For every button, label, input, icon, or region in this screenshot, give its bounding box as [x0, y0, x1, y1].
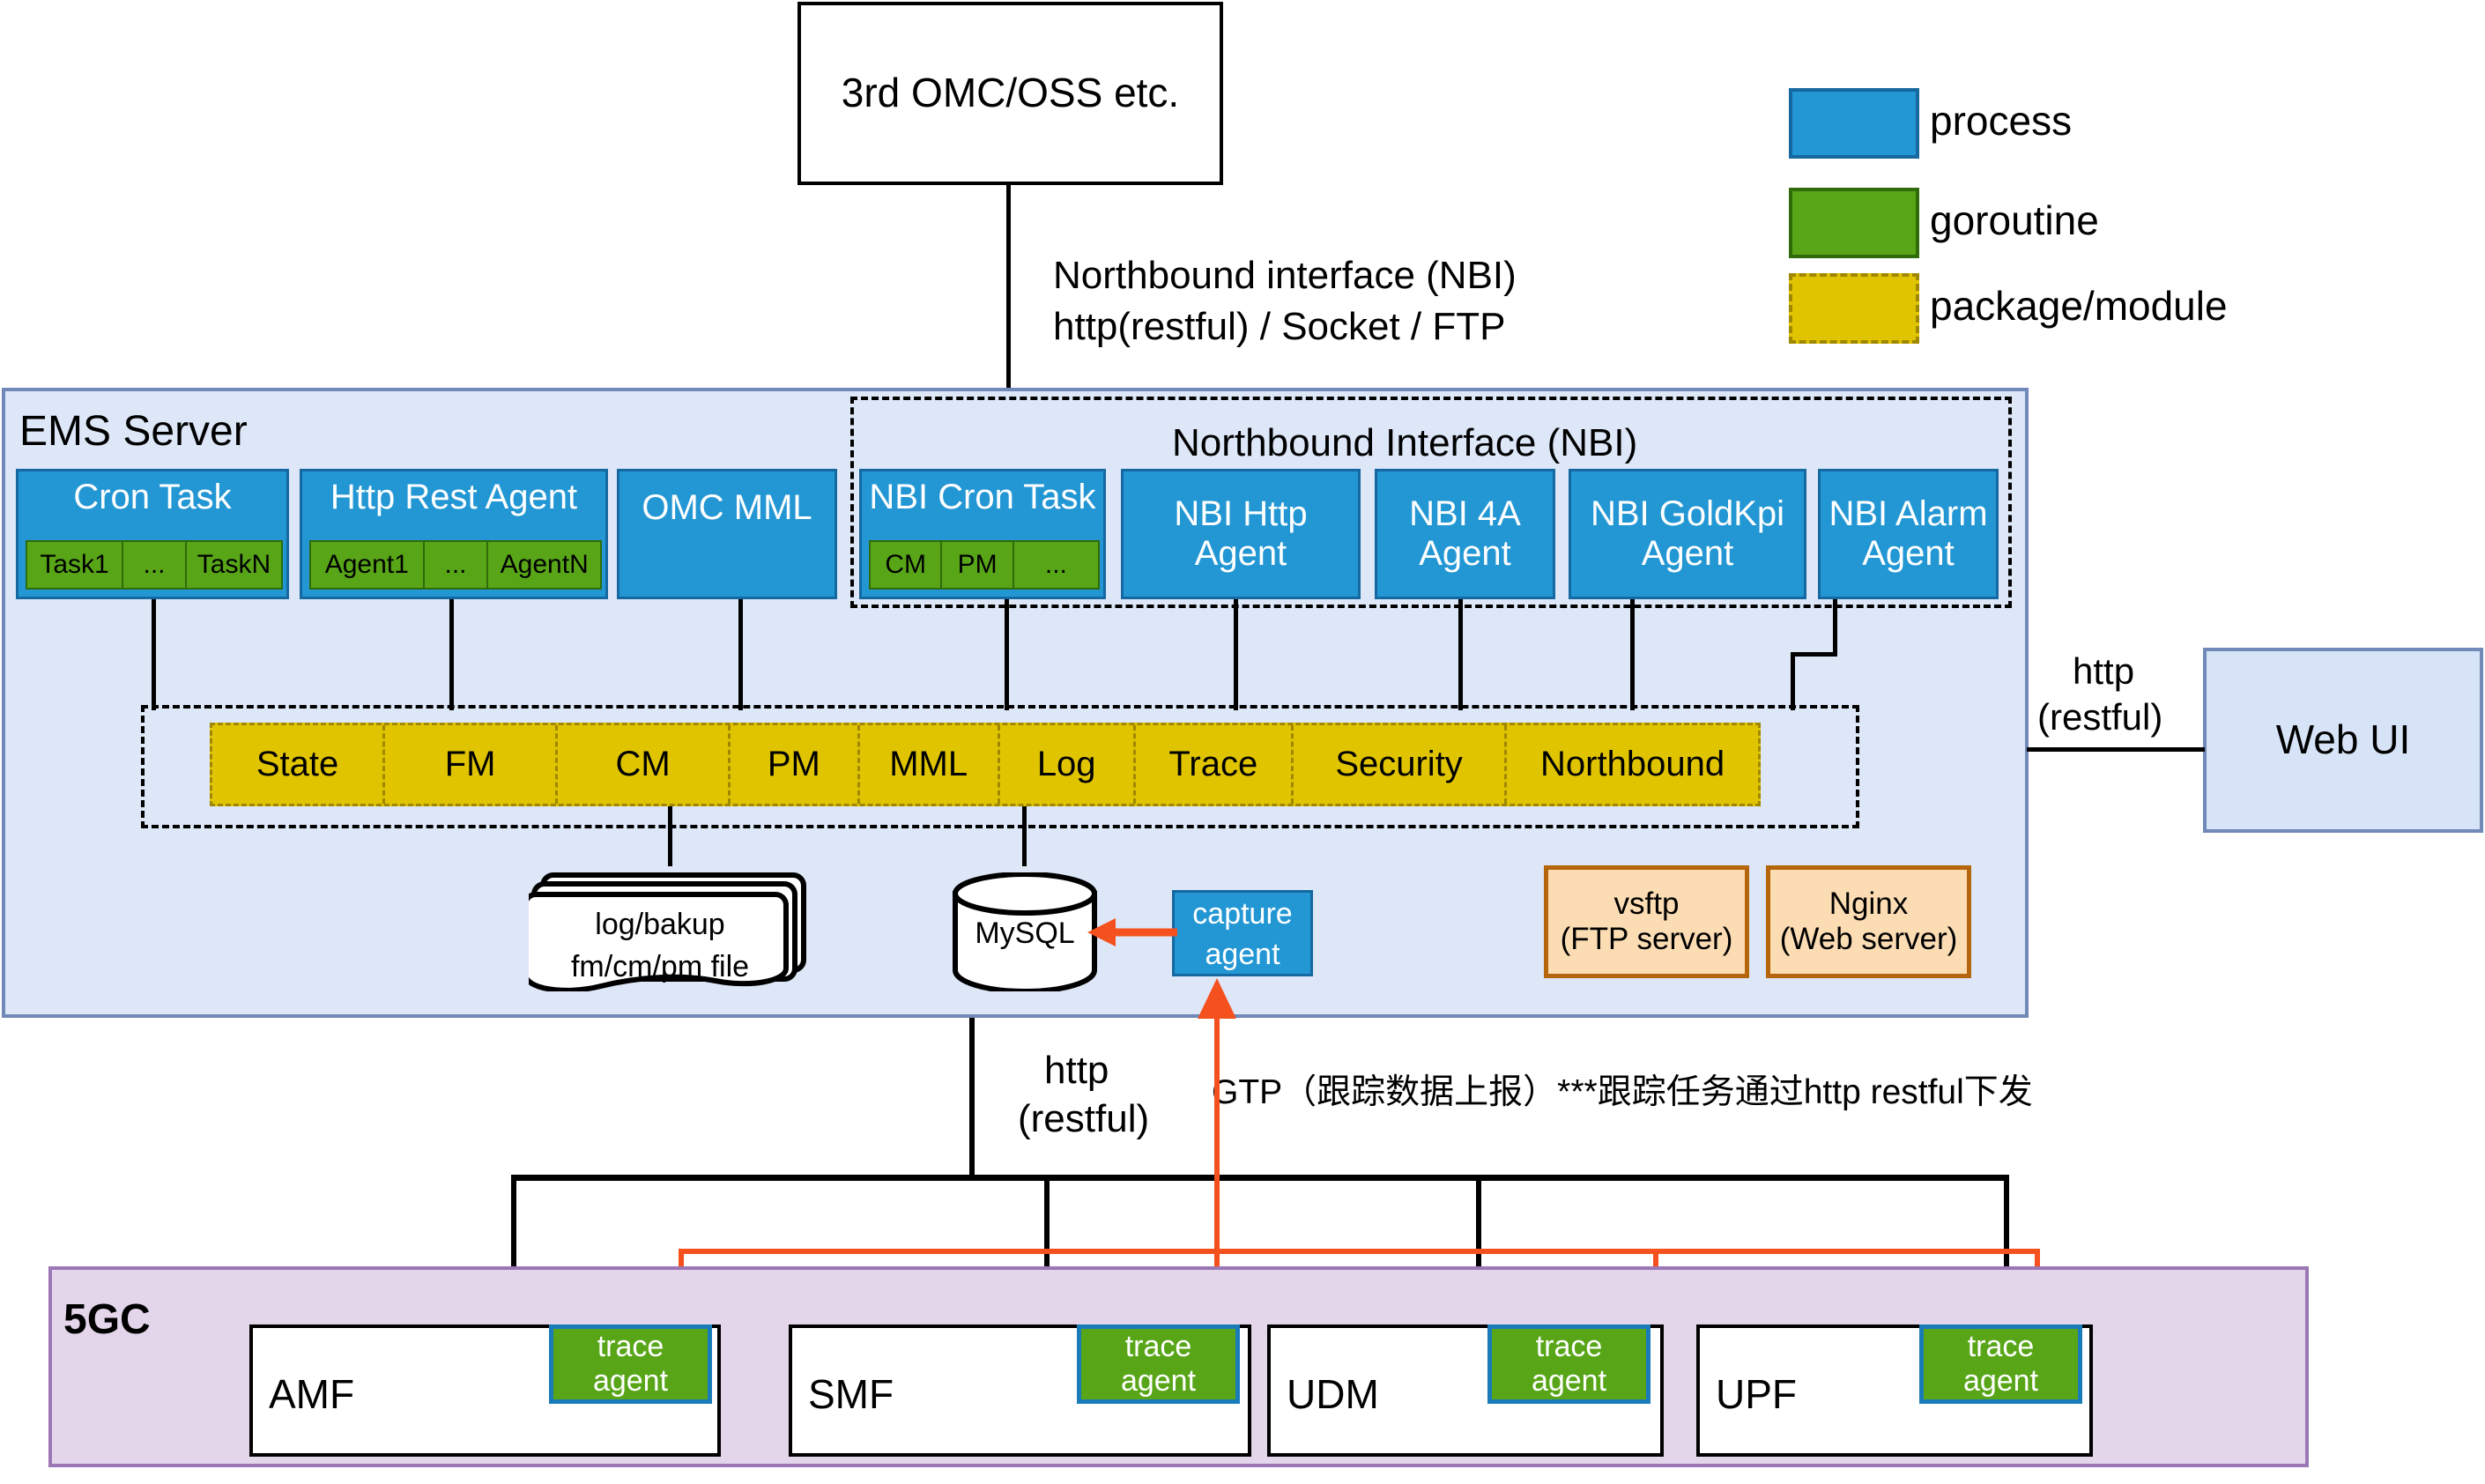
- connector-cron-task-to-modules: [152, 599, 156, 710]
- service-nginx-line2: (Web server): [1780, 922, 1958, 957]
- goroutine-group-cron-task: Task1 ... TaskN: [26, 540, 283, 590]
- nf-label-smf: SMF: [808, 1370, 894, 1418]
- file-store-label-line2: fm/cm/pm file: [515, 950, 805, 984]
- service-box-nginx[interactable]: Nginx (Web server): [1766, 865, 1971, 978]
- module-cm[interactable]: CM: [558, 725, 731, 804]
- module-northbound[interactable]: Northbound: [1507, 725, 1758, 804]
- trace-agent-label-line1: trace: [1125, 1330, 1192, 1364]
- legend-label-goroutine: goroutine: [1930, 197, 2099, 244]
- nf-label-amf: AMF: [269, 1370, 354, 1418]
- connector-ems-to-webui: [2027, 747, 2205, 752]
- module-bar: State FM CM PM MML Log Trace Security No…: [210, 723, 1761, 806]
- connector-nbi-alarm-agent-h: [1791, 652, 1837, 657]
- service-box-vsftp[interactable]: vsftp (FTP server): [1544, 865, 1749, 978]
- database-shape[interactable]: MySQL: [950, 872, 1100, 991]
- service-vsftp-line1: vsftp: [1614, 887, 1680, 922]
- arrow-capture-to-mysql: [1084, 916, 1181, 952]
- process-label-cron-task: Cron Task: [19, 471, 286, 523]
- goroutine-cell: CM: [871, 542, 942, 588]
- legend-label-module: package/module: [1930, 282, 2228, 330]
- module-security[interactable]: Security: [1294, 725, 1507, 804]
- process-box-nbi-goldkpi-agent[interactable]: NBI GoldKpi Agent: [1569, 469, 1806, 599]
- process-label-nbi-goldkpi-agent: NBI GoldKpi Agent: [1578, 494, 1797, 574]
- trace-agent-smf[interactable]: trace agent: [1077, 1324, 1240, 1404]
- trace-agent-label-line2: agent: [593, 1364, 668, 1399]
- connector-nbi-goldkpi-agent-to-modules: [1630, 599, 1635, 710]
- service-vsftp-line2: (FTP server): [1561, 922, 1733, 957]
- module-mml[interactable]: MML: [860, 725, 1000, 804]
- process-box-nbi-4a-agent[interactable]: NBI 4A Agent: [1375, 469, 1555, 599]
- ems-server-title: EMS Server: [19, 407, 248, 456]
- trace-agent-label-line2: agent: [1532, 1364, 1606, 1399]
- goroutine-cell: Agent1: [311, 542, 425, 588]
- goroutine-cell: Task1: [27, 542, 123, 588]
- capture-agent-label-line2: agent: [1175, 935, 1310, 974]
- process-label-nbi-cron-task: NBI Cron Task: [862, 471, 1103, 523]
- process-label-omc-mml: OMC MML: [642, 488, 812, 528]
- process-label-http-rest-agent: Http Rest Agent: [302, 471, 605, 523]
- trace-uplink-vertical: [1214, 1018, 1220, 1251]
- process-box-nbi-alarm-agent[interactable]: NBI Alarm Agent: [1818, 469, 1999, 599]
- trace-agent-label-line1: trace: [1536, 1330, 1603, 1364]
- goroutine-cell: TaskN: [187, 542, 281, 588]
- connector-ems-to-5gc-bus: [969, 1018, 975, 1175]
- web-ui-box[interactable]: Web UI: [2203, 648, 2483, 833]
- connector-nbi-cron-task-to-modules: [1005, 599, 1009, 710]
- trace-agent-label-line1: trace: [597, 1330, 664, 1364]
- connector-nbi-http-agent-to-modules: [1234, 599, 1238, 710]
- web-ui-label: Web UI: [2276, 717, 2411, 763]
- connector-cm-module-to-file-store: [668, 806, 672, 866]
- nbi-group-title: Northbound Interface (NBI): [1172, 421, 1637, 465]
- legend-label-process: process: [1930, 97, 2072, 145]
- trace-agent-label-line1: trace: [1968, 1330, 2035, 1364]
- webui-link-label-line2: (restful): [2037, 696, 2162, 738]
- trace-agent-amf[interactable]: trace agent: [549, 1324, 712, 1404]
- external-system-label: 3rd OMC/OSS etc.: [842, 70, 1179, 116]
- goroutine-cell: ...: [123, 542, 187, 588]
- trace-agent-label-line2: agent: [1963, 1364, 2038, 1399]
- trace-agent-upf[interactable]: trace agent: [1919, 1324, 2082, 1404]
- trace-bus-horizontal: [679, 1249, 2040, 1254]
- gtp-note-label: GTP（跟踪数据上报）***跟踪任务通过http restful下发: [1212, 1065, 2033, 1114]
- process-label-nbi-alarm-agent: NBI Alarm Agent: [1828, 494, 1989, 574]
- process-box-nbi-cron-task[interactable]: NBI Cron Task CM PM ...: [859, 469, 1106, 599]
- nbi-link-label-line1: Northbound interface (NBI): [1053, 254, 1517, 298]
- file-store-shape[interactable]: log/bakup fm/cm/pm file: [529, 859, 820, 991]
- http-link-label-line1: http: [1044, 1049, 1109, 1093]
- connector-nbi-alarm-agent-v1: [1833, 599, 1837, 656]
- connector-log-module-to-mysql: [1022, 806, 1027, 866]
- module-pm[interactable]: PM: [731, 725, 859, 804]
- nf-label-udm: UDM: [1287, 1370, 1379, 1418]
- fivegc-title: 5GC: [63, 1295, 151, 1344]
- module-trace[interactable]: Trace: [1136, 725, 1294, 804]
- process-label-nbi-4a-agent: NBI 4A Agent: [1386, 494, 1544, 574]
- goroutine-cell: AgentN: [488, 542, 600, 588]
- database-label: MySQL: [950, 916, 1100, 951]
- service-nginx-line1: Nginx: [1829, 887, 1908, 922]
- capture-agent-label-line1: capture: [1175, 893, 1310, 935]
- goroutine-cell: ...: [425, 542, 489, 588]
- legend-swatch-process: [1789, 88, 1919, 159]
- external-system-box[interactable]: 3rd OMC/OSS etc.: [797, 2, 1223, 185]
- connector-omc-mml-to-modules: [738, 599, 743, 710]
- goroutine-group-nbi-cron-task: CM PM ...: [869, 540, 1100, 590]
- diagram-canvas: process goroutine package/module 3rd OMC…: [0, 0, 2485, 1484]
- process-box-capture-agent[interactable]: capture agent: [1172, 890, 1313, 976]
- process-box-cron-task[interactable]: Cron Task Task1 ... TaskN: [16, 469, 289, 599]
- module-log[interactable]: Log: [1000, 725, 1136, 804]
- 5gc-bus-horizontal: [511, 1175, 2009, 1181]
- nf-label-upf: UPF: [1716, 1370, 1797, 1418]
- legend-swatch-module: [1789, 273, 1919, 344]
- webui-link-label-line1: http: [2073, 650, 2134, 693]
- process-box-omc-mml[interactable]: OMC MML: [617, 469, 837, 599]
- trace-agent-label-line2: agent: [1121, 1364, 1196, 1399]
- process-label-nbi-http-agent: NBI Http Agent: [1136, 494, 1346, 574]
- process-box-nbi-http-agent[interactable]: NBI Http Agent: [1121, 469, 1361, 599]
- goroutine-cell: ...: [1014, 542, 1098, 588]
- arrow-trace-to-capture-agent: [1197, 976, 1239, 1026]
- trace-agent-udm[interactable]: trace agent: [1487, 1324, 1650, 1404]
- connector-http-rest-agent-to-modules: [449, 599, 454, 710]
- nbi-link-label-line2: http(restful) / Socket / FTP: [1053, 305, 1505, 349]
- connector-oss-to-nbi: [1006, 185, 1011, 397]
- connector-nbi-alarm-agent-v2: [1791, 652, 1795, 710]
- connector-nbi-4a-agent-to-modules: [1458, 599, 1463, 710]
- legend-swatch-goroutine: [1789, 188, 1919, 258]
- file-store-label-line1: log/bakup: [515, 908, 805, 942]
- module-state[interactable]: State: [212, 725, 385, 804]
- http-link-label-line2: (restful): [1018, 1097, 1149, 1141]
- process-box-http-rest-agent[interactable]: Http Rest Agent Agent1 ... AgentN: [300, 469, 608, 599]
- goroutine-group-http-rest-agent: Agent1 ... AgentN: [309, 540, 602, 590]
- module-fm[interactable]: FM: [385, 725, 558, 804]
- goroutine-cell: PM: [942, 542, 1013, 588]
